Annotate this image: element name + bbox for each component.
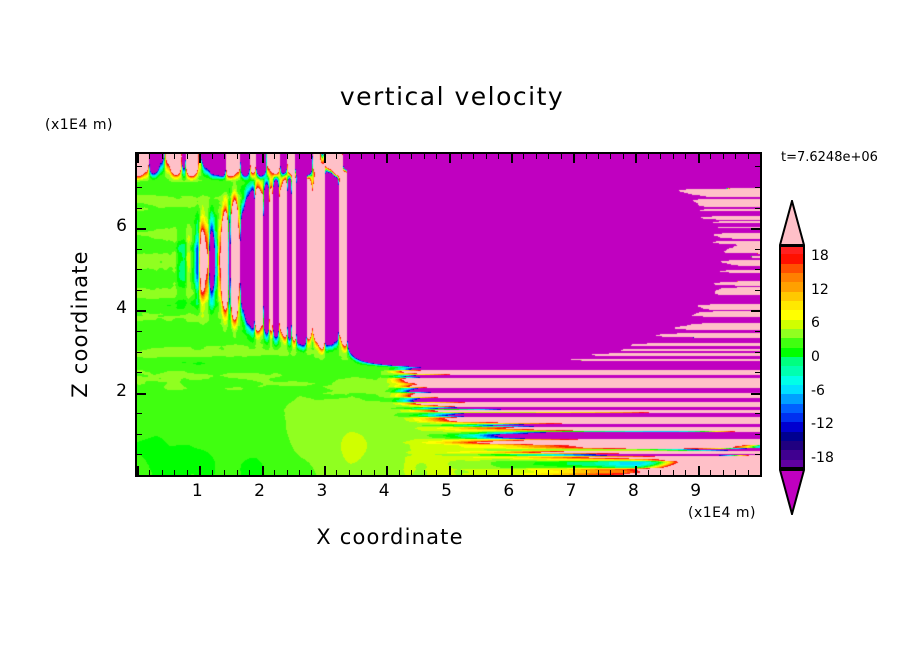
colorbar-band: [779, 338, 805, 347]
x-minor-tick: [710, 470, 711, 475]
x-minor-tick-top: [623, 154, 624, 159]
x-minor-tick: [336, 470, 337, 475]
x-minor-tick-top: [299, 154, 300, 159]
colorbar-band: [779, 264, 805, 273]
x-minor-tick-top: [436, 154, 437, 159]
x-major-tick-top: [262, 154, 264, 163]
x-major-tick: [449, 466, 451, 475]
x-minor-tick: [523, 470, 524, 475]
x-minor-tick-top: [685, 154, 686, 159]
colorbar-over-cap: [779, 200, 805, 246]
y-minor-tick-right: [755, 331, 760, 332]
x-minor-tick: [723, 470, 724, 475]
y-minor-tick: [137, 269, 142, 270]
x-minor-tick-top: [498, 154, 499, 159]
colorbar-tick-label: -18: [811, 450, 834, 466]
x-minor-tick-top: [586, 154, 587, 159]
x-major-tick: [760, 466, 762, 475]
x-minor-tick: [311, 470, 312, 475]
x-minor-tick-top: [174, 154, 175, 159]
x-minor-tick: [187, 470, 188, 475]
y-minor-tick: [137, 249, 142, 250]
colorbar-band: [779, 348, 805, 357]
x-minor-tick-top: [187, 154, 188, 159]
x-minor-tick-top: [548, 154, 549, 159]
y-major-tick-right: [751, 310, 760, 312]
x-minor-tick: [498, 470, 499, 475]
x-minor-tick: [149, 470, 150, 475]
x-minor-tick: [162, 470, 163, 475]
colorbar-band: [779, 301, 805, 310]
x-minor-tick-top: [473, 154, 474, 159]
colorbar-band: [779, 292, 805, 301]
colorbar-tick-label: -12: [811, 416, 834, 432]
colorbar-band: [779, 413, 805, 422]
x-minor-tick-top: [536, 154, 537, 159]
x-minor-tick-top: [374, 154, 375, 159]
y-minor-tick: [137, 290, 142, 291]
colorbar-band: [779, 404, 805, 413]
y-tick-label: 6: [101, 216, 127, 236]
y-minor-tick: [137, 434, 142, 435]
x-axis-unit-label: (x1E4 m): [688, 505, 756, 521]
x-minor-tick: [374, 470, 375, 475]
y-minor-tick-right: [755, 372, 760, 373]
x-minor-tick-top: [673, 154, 674, 159]
x-minor-tick-top: [748, 154, 749, 159]
x-minor-tick-top: [336, 154, 337, 159]
x-major-tick: [573, 466, 575, 475]
colorbar-band: [779, 376, 805, 385]
x-minor-tick: [735, 470, 736, 475]
y-minor-tick-right: [755, 249, 760, 250]
colorbar-tick-label: 12: [811, 282, 829, 298]
colorbar-band: [779, 441, 805, 450]
x-minor-tick-top: [249, 154, 250, 159]
x-minor-tick: [561, 470, 562, 475]
colorbar-band: [779, 394, 805, 403]
y-minor-tick: [137, 166, 142, 167]
y-minor-tick-right: [755, 290, 760, 291]
x-minor-tick-top: [486, 154, 487, 159]
x-minor-tick: [648, 470, 649, 475]
x-minor-tick: [685, 470, 686, 475]
y-major-tick-right: [751, 228, 760, 230]
x-major-tick: [698, 466, 700, 475]
x-minor-tick: [424, 470, 425, 475]
y-minor-tick-right: [755, 454, 760, 455]
x-minor-tick: [361, 470, 362, 475]
x-major-tick-top: [324, 154, 326, 163]
x-minor-tick: [399, 470, 400, 475]
x-minor-tick-top: [274, 154, 275, 159]
colorbar-band: [779, 282, 805, 291]
y-major-tick-right: [751, 393, 760, 395]
x-minor-tick-top: [224, 154, 225, 159]
x-minor-tick-top: [561, 154, 562, 159]
x-minor-tick-top: [212, 154, 213, 159]
y-minor-tick-right: [755, 413, 760, 414]
x-minor-tick: [748, 470, 749, 475]
y-minor-tick: [137, 413, 142, 414]
x-tick-label: 5: [441, 481, 452, 501]
colorbar-bands: [779, 245, 805, 469]
x-minor-tick: [212, 470, 213, 475]
y-major-tick: [137, 393, 146, 395]
x-minor-tick-top: [311, 154, 312, 159]
x-major-tick: [199, 466, 201, 475]
x-minor-tick-top: [735, 154, 736, 159]
x-minor-tick-top: [660, 154, 661, 159]
colorbar-band: [779, 273, 805, 282]
x-minor-tick: [249, 470, 250, 475]
x-axis-title: X coordinate: [0, 525, 780, 549]
y-major-tick: [137, 228, 146, 230]
x-minor-tick: [224, 470, 225, 475]
colorbar-band: [779, 245, 805, 254]
x-major-tick-top: [760, 154, 762, 163]
x-major-tick: [511, 466, 513, 475]
x-major-tick: [262, 466, 264, 475]
x-tick-label: 4: [379, 481, 390, 501]
colorbar-band: [779, 320, 805, 329]
colorbar-tick-label: 6: [811, 315, 820, 331]
x-minor-tick: [436, 470, 437, 475]
x-minor-tick-top: [162, 154, 163, 159]
x-minor-tick: [274, 470, 275, 475]
x-minor-tick: [174, 470, 175, 475]
chart-title: vertical velocity: [0, 82, 904, 111]
x-major-tick: [386, 466, 388, 475]
y-minor-tick-right: [755, 434, 760, 435]
x-minor-tick: [461, 470, 462, 475]
y-minor-tick: [137, 352, 142, 353]
y-minor-tick-right: [755, 352, 760, 353]
colorbar-band: [779, 460, 805, 469]
x-major-tick: [324, 466, 326, 475]
x-minor-tick-top: [610, 154, 611, 159]
colorbar-tick-label: 0: [811, 349, 820, 365]
y-minor-tick: [137, 331, 142, 332]
y-minor-tick: [137, 454, 142, 455]
x-minor-tick-top: [523, 154, 524, 159]
axis-tick-layer: [137, 154, 760, 475]
colorbar-band: [779, 357, 805, 366]
x-minor-tick-top: [723, 154, 724, 159]
x-tick-label: 1: [192, 481, 203, 501]
x-tick-label: 9: [690, 481, 701, 501]
colorbar-band: [779, 310, 805, 319]
colorbar-band: [779, 432, 805, 441]
colorbar-tick-label: -6: [811, 383, 825, 399]
colorbar-band: [779, 450, 805, 459]
y-minor-tick-right: [755, 208, 760, 209]
colorbar-under-cap: [779, 469, 805, 515]
x-tick-label: 7: [566, 481, 577, 501]
x-minor-tick: [473, 470, 474, 475]
y-tick-label: 4: [101, 298, 127, 318]
colorbar-band: [779, 366, 805, 375]
x-major-tick-top: [199, 154, 201, 163]
y-axis-title: Z coordinate: [68, 204, 92, 444]
x-major-tick: [137, 466, 139, 475]
timestamp-label: t=7.6248e+06: [781, 150, 878, 165]
x-tick-label: 6: [503, 481, 514, 501]
colorbar-band: [779, 329, 805, 338]
x-minor-tick: [660, 470, 661, 475]
x-major-tick-top: [698, 154, 700, 163]
x-major-tick-top: [386, 154, 388, 163]
y-major-tick: [137, 475, 146, 477]
x-minor-tick: [237, 470, 238, 475]
x-minor-tick-top: [349, 154, 350, 159]
colorbar-band: [779, 254, 805, 263]
x-major-tick-top: [137, 154, 139, 163]
x-minor-tick: [299, 470, 300, 475]
x-minor-tick: [610, 470, 611, 475]
colorbar-band: [779, 422, 805, 431]
x-minor-tick-top: [399, 154, 400, 159]
figure-root: vertical velocity (x1E4 m) (x1E4 m) t=7.…: [0, 0, 904, 654]
y-minor-tick: [137, 187, 142, 188]
x-minor-tick: [486, 470, 487, 475]
colorbar: 181260-6-12-18: [779, 200, 805, 515]
x-major-tick-top: [635, 154, 637, 163]
x-minor-tick: [598, 470, 599, 475]
x-minor-tick-top: [710, 154, 711, 159]
x-minor-tick: [349, 470, 350, 475]
x-minor-tick-top: [648, 154, 649, 159]
colorbar-band: [779, 385, 805, 394]
y-minor-tick-right: [755, 269, 760, 270]
y-axis-unit-label: (x1E4 m): [45, 117, 113, 133]
x-major-tick: [635, 466, 637, 475]
x-major-tick-top: [573, 154, 575, 163]
x-minor-tick: [548, 470, 549, 475]
y-major-tick-right: [751, 475, 760, 477]
x-tick-label: 3: [316, 481, 327, 501]
x-minor-tick-top: [149, 154, 150, 159]
x-minor-tick-top: [424, 154, 425, 159]
x-minor-tick-top: [461, 154, 462, 159]
x-minor-tick: [623, 470, 624, 475]
x-minor-tick-top: [287, 154, 288, 159]
x-minor-tick: [586, 470, 587, 475]
y-minor-tick-right: [755, 187, 760, 188]
y-tick-label: 2: [101, 381, 127, 401]
x-major-tick-top: [511, 154, 513, 163]
x-tick-label: 8: [628, 481, 639, 501]
x-minor-tick: [411, 470, 412, 475]
x-minor-tick: [287, 470, 288, 475]
x-minor-tick: [673, 470, 674, 475]
colorbar-tick-label: 18: [811, 248, 829, 264]
x-minor-tick-top: [237, 154, 238, 159]
y-minor-tick: [137, 372, 142, 373]
x-minor-tick: [536, 470, 537, 475]
y-minor-tick: [137, 208, 142, 209]
x-minor-tick-top: [411, 154, 412, 159]
x-major-tick-top: [449, 154, 451, 163]
x-minor-tick-top: [361, 154, 362, 159]
contour-plot-area: [135, 152, 762, 477]
x-minor-tick-top: [598, 154, 599, 159]
y-major-tick: [137, 310, 146, 312]
x-tick-label: 2: [254, 481, 265, 501]
y-minor-tick-right: [755, 166, 760, 167]
